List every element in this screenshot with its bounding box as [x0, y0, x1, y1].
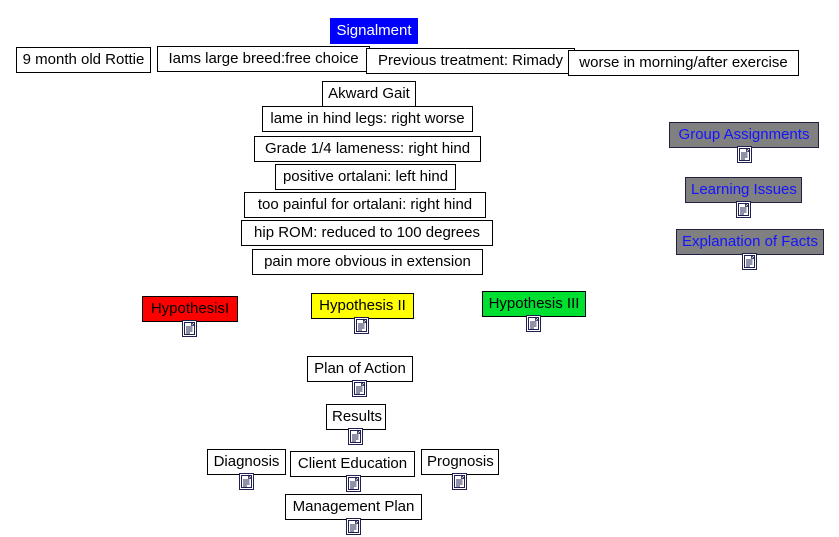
document-icon[interactable] [354, 317, 369, 334]
node-akward_gait[interactable]: Akward Gait [322, 81, 416, 107]
node-results[interactable]: Results [326, 404, 386, 430]
document-icon[interactable] [526, 315, 541, 332]
node-positive_ortalani[interactable]: positive ortalani: left hind [275, 164, 456, 190]
node-hip_rom[interactable]: hip ROM: reduced to 100 degrees [241, 220, 493, 246]
node-hypothesis_3[interactable]: Hypothesis III [482, 291, 586, 317]
node-hypothesis_2[interactable]: Hypothesis II [311, 293, 414, 319]
node-prev_treatment[interactable]: Previous treatment: Rimady [366, 48, 575, 74]
node-management_plan[interactable]: Management Plan [285, 494, 422, 520]
document-icon[interactable] [346, 475, 361, 492]
document-icon[interactable] [352, 380, 367, 397]
concept-map-canvas: Signalment9 month old RottieIams large b… [0, 0, 839, 537]
document-icon[interactable] [742, 253, 757, 270]
document-icon[interactable] [182, 320, 197, 337]
document-icon[interactable] [348, 428, 363, 445]
node-client_education[interactable]: Client Education [290, 451, 415, 477]
node-explanation_facts[interactable]: Explanation of Facts [676, 229, 824, 255]
node-age_breed[interactable]: 9 month old Rottie [16, 47, 151, 73]
node-worse_timing[interactable]: worse in morning/after exercise [568, 50, 799, 76]
node-pain_extension[interactable]: pain more obvious in extension [252, 249, 483, 275]
node-learning_issues[interactable]: Learning Issues [685, 177, 802, 203]
node-painful_ortalani[interactable]: too painful for ortalani: right hind [244, 192, 486, 218]
document-icon[interactable] [737, 146, 752, 163]
node-diet[interactable]: Iams large breed:free choice [157, 46, 370, 72]
document-icon[interactable] [452, 473, 467, 490]
document-icon[interactable] [736, 201, 751, 218]
node-lame_hind[interactable]: lame in hind legs: right worse [262, 106, 473, 132]
node-prognosis[interactable]: Prognosis [421, 449, 499, 475]
document-icon[interactable] [346, 518, 361, 535]
node-plan_of_action[interactable]: Plan of Action [307, 356, 413, 382]
node-signalment[interactable]: Signalment [330, 18, 418, 44]
document-icon[interactable] [239, 473, 254, 490]
node-group_assignments[interactable]: Group Assignments [669, 122, 819, 148]
node-grade_lameness[interactable]: Grade 1/4 lameness: right hind [254, 136, 481, 162]
node-diagnosis[interactable]: Diagnosis [207, 449, 286, 475]
node-hypothesis_1[interactable]: HypothesisI [142, 296, 238, 322]
